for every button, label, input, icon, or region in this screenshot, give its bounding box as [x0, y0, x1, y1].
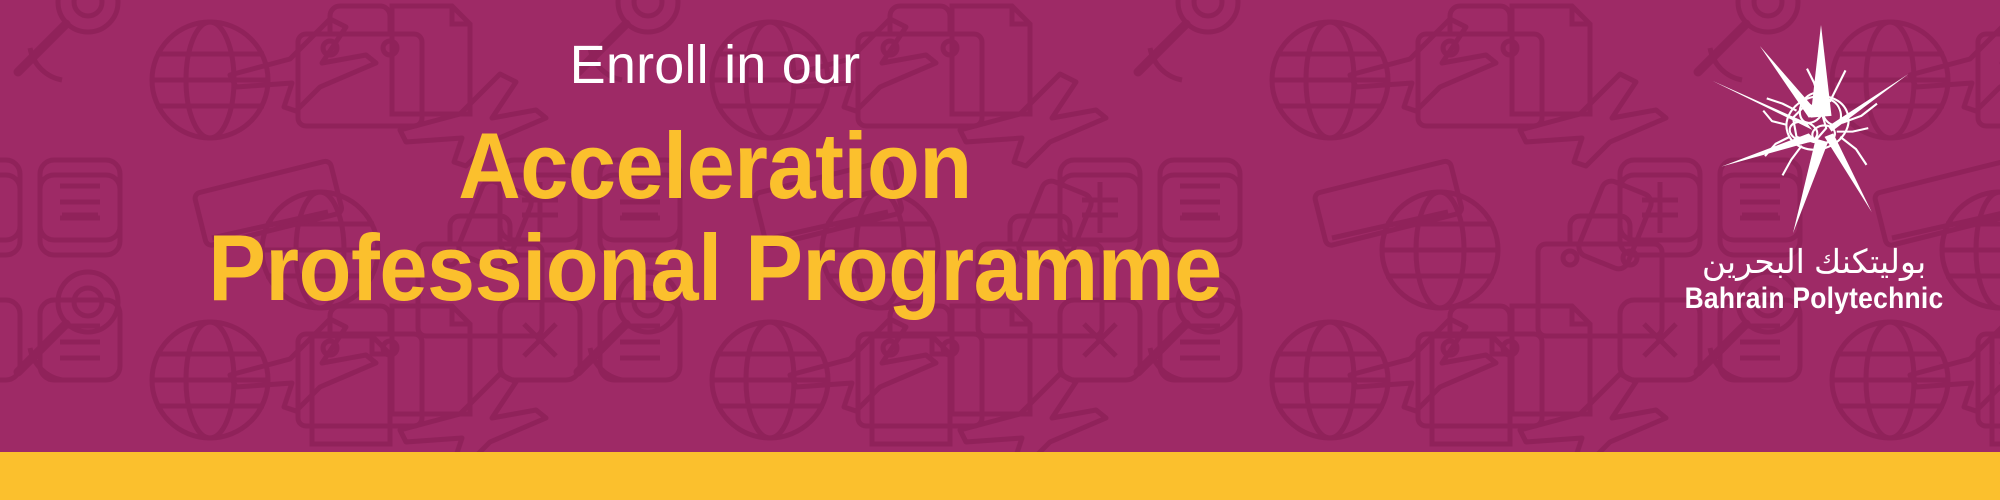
promo-headline-line-2: Professional Programme: [57, 214, 1373, 316]
promo-headline-line-1: Acceleration: [57, 92, 1373, 214]
logo-english-name: Bahrain Polytechnic: [1682, 282, 1946, 315]
bottom-accent-bar: [0, 452, 2000, 500]
promo-text-block: Enroll in our Acceleration Professional …: [0, 0, 1430, 452]
promo-banner: Enroll in our Acceleration Professional …: [0, 0, 2000, 500]
logo-arabic-name: بوليتكنك البحرين: [1664, 244, 1964, 280]
starburst-logo-icon: [1709, 18, 1919, 240]
promo-eyebrow: Enroll in our: [0, 0, 1430, 92]
bahrain-polytechnic-logo: بوليتكنك البحرين Bahrain Polytechnic: [1664, 18, 1964, 438]
